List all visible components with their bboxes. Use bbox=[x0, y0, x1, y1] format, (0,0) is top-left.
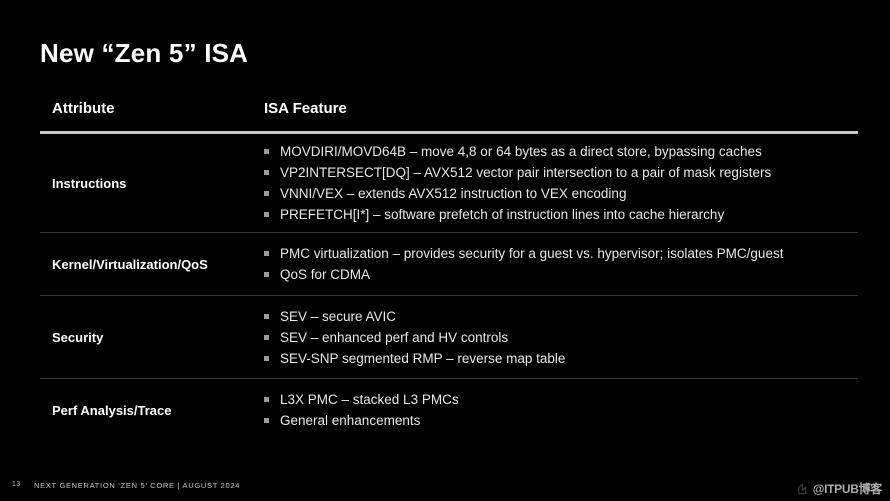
square-bullet-icon bbox=[264, 251, 269, 256]
list-item: General enhancements bbox=[264, 410, 858, 431]
table-header-row: Attribute ISA Feature bbox=[40, 100, 858, 131]
watermark-logo-icon bbox=[797, 482, 811, 496]
list-item: SEV – secure AVIC bbox=[264, 306, 858, 327]
row-feature-cell: SEV – secure AVIC SEV – enhanced perf an… bbox=[264, 306, 858, 369]
square-bullet-icon bbox=[264, 397, 269, 402]
slide-footer: 13 NEXT GENERATION ‘ZEN 5’ CORE | AUGUST… bbox=[0, 475, 890, 501]
square-bullet-icon bbox=[264, 191, 269, 196]
feature-bullet-list: L3X PMC – stacked L3 PMCs General enhanc… bbox=[264, 389, 858, 431]
row-attribute-label: Security bbox=[40, 330, 264, 345]
watermark: @ITPUB博客 bbox=[797, 480, 882, 497]
list-item-text: VP2INTERSECT[DQ] – AVX512 vector pair in… bbox=[280, 165, 771, 180]
list-item-text: SEV-SNP segmented RMP – reverse map tabl… bbox=[280, 351, 565, 366]
row-attribute-label: Kernel/Virtualization/QoS bbox=[40, 257, 264, 272]
feature-bullet-list: MOVDIRI/MOVD64B – move 4,8 or 64 bytes a… bbox=[264, 141, 858, 225]
square-bullet-icon bbox=[264, 170, 269, 175]
column-header-attribute: Attribute bbox=[52, 100, 115, 117]
square-bullet-icon bbox=[264, 356, 269, 361]
square-bullet-icon bbox=[264, 212, 269, 217]
footer-deck-label: NEXT GENERATION ‘ZEN 5’ CORE | AUGUST 20… bbox=[34, 481, 240, 490]
list-item-text: MOVDIRI/MOVD64B – move 4,8 or 64 bytes a… bbox=[280, 144, 762, 159]
feature-bullet-list: SEV – secure AVIC SEV – enhanced perf an… bbox=[264, 306, 858, 369]
list-item-text: SEV – secure AVIC bbox=[280, 309, 396, 324]
square-bullet-icon bbox=[264, 272, 269, 277]
isa-feature-table: Attribute ISA Feature Instructions MOVDI… bbox=[40, 100, 858, 441]
table-row: Instructions MOVDIRI/MOVD64B – move 4,8 … bbox=[40, 134, 858, 232]
footer-page-number: 13 bbox=[12, 481, 21, 488]
square-bullet-icon bbox=[264, 418, 269, 423]
list-item-text: SEV – enhanced perf and HV controls bbox=[280, 330, 508, 345]
list-item: SEV – enhanced perf and HV controls bbox=[264, 327, 858, 348]
list-item-text: PREFETCH[I*] – software prefetch of inst… bbox=[280, 207, 724, 222]
row-feature-cell: PMC virtualization – provides security f… bbox=[264, 243, 858, 285]
list-item-text: VNNI/VEX – extends AVX512 instruction to… bbox=[280, 186, 626, 201]
page-title: New “Zen 5” ISA bbox=[40, 38, 248, 69]
table-row: Perf Analysis/Trace L3X PMC – stacked L3… bbox=[40, 379, 858, 441]
list-item: QoS for CDMA bbox=[264, 264, 858, 285]
list-item: PREFETCH[I*] – software prefetch of inst… bbox=[264, 204, 858, 225]
table-row: Security SEV – secure AVIC SEV – enhance… bbox=[40, 296, 858, 378]
list-item: PMC virtualization – provides security f… bbox=[264, 243, 858, 264]
column-header-isa-feature: ISA Feature bbox=[264, 100, 347, 117]
square-bullet-icon bbox=[264, 314, 269, 319]
row-attribute-label: Perf Analysis/Trace bbox=[40, 403, 264, 418]
square-bullet-icon bbox=[264, 335, 269, 340]
table-row: Kernel/Virtualization/QoS PMC virtualiza… bbox=[40, 233, 858, 295]
list-item: VNNI/VEX – extends AVX512 instruction to… bbox=[264, 183, 858, 204]
watermark-text: @ITPUB博客 bbox=[813, 480, 882, 497]
list-item-text: General enhancements bbox=[280, 413, 420, 428]
list-item: L3X PMC – stacked L3 PMCs bbox=[264, 389, 858, 410]
slide-canvas: New “Zen 5” ISA Attribute ISA Feature In… bbox=[0, 0, 890, 501]
square-bullet-icon bbox=[264, 149, 269, 154]
list-item: SEV-SNP segmented RMP – reverse map tabl… bbox=[264, 348, 858, 369]
feature-bullet-list: PMC virtualization – provides security f… bbox=[264, 243, 858, 285]
list-item: VP2INTERSECT[DQ] – AVX512 vector pair in… bbox=[264, 162, 858, 183]
list-item-text: QoS for CDMA bbox=[280, 267, 370, 282]
list-item: MOVDIRI/MOVD64B – move 4,8 or 64 bytes a… bbox=[264, 141, 858, 162]
list-item-text: PMC virtualization – provides security f… bbox=[280, 246, 783, 261]
row-feature-cell: MOVDIRI/MOVD64B – move 4,8 or 64 bytes a… bbox=[264, 141, 858, 225]
row-attribute-label: Instructions bbox=[40, 176, 264, 191]
list-item-text: L3X PMC – stacked L3 PMCs bbox=[280, 392, 459, 407]
row-feature-cell: L3X PMC – stacked L3 PMCs General enhanc… bbox=[264, 389, 858, 431]
